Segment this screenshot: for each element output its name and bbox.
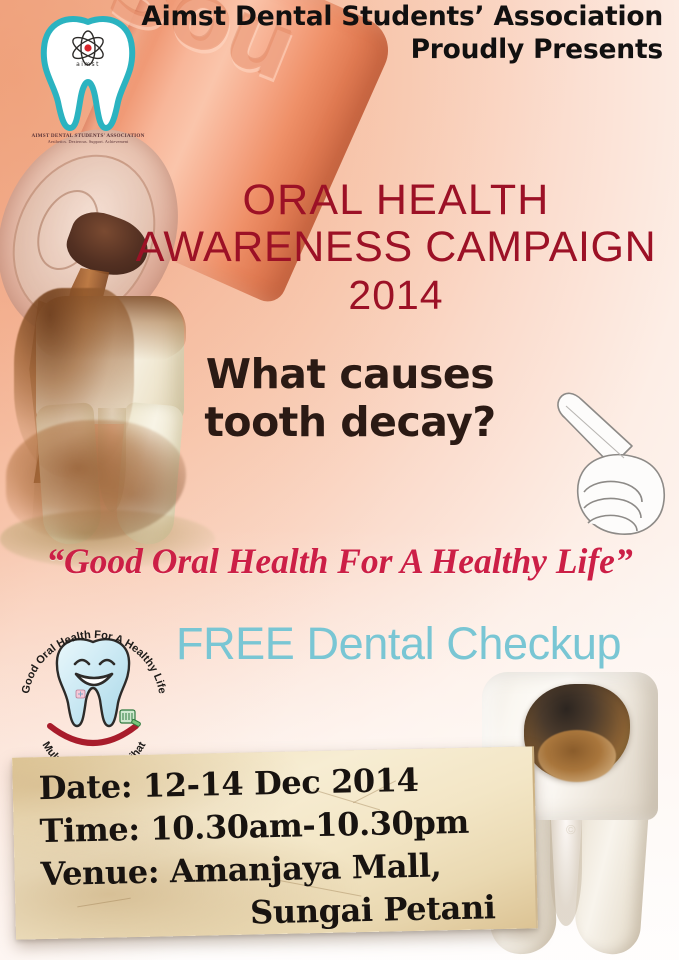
- adsa-caption-line2: Aesthetics. Dexterous. Support. Achievem…: [18, 140, 158, 144]
- question-line1: What causes: [206, 350, 494, 398]
- event-details-panel: Date: 12-14 Dec 2014 Time: 10.30am-10.30…: [12, 746, 538, 939]
- campaign-slogan: “Good Oral Health For A Healthy Life”: [0, 540, 679, 582]
- question-line2: tooth decay?: [150, 400, 550, 446]
- event-details-text: Date: 12-14 Dec 2014 Time: 10.30am-10.30…: [38, 757, 512, 939]
- campaign-title-line2: AWARENESS CAMPAIGN: [120, 225, 672, 269]
- organisation-header: Aimst Dental Students’ Association Proud…: [103, 2, 663, 65]
- aimst-monogram: aimst: [76, 61, 100, 68]
- poster-canvas: Sou aimst AIMST DENTAL STUDENTS' A: [0, 0, 679, 960]
- free-checkup-text: FREE Dental Checkup: [176, 618, 676, 670]
- org-name: Aimst Dental Students’ Association: [103, 2, 663, 33]
- oral-health-programme-logo: Good Oral Health For A Healthy Life Mulu…: [14, 614, 172, 762]
- question-heading: What causes tooth decay?: [150, 352, 550, 446]
- molar-root-right: [573, 800, 649, 956]
- campaign-year: 2014: [120, 274, 672, 316]
- watermark-icon: ©: [566, 822, 576, 837]
- adsa-logo-caption: AIMST DENTAL STUDENTS' ASSOCIATION Aesth…: [18, 134, 158, 145]
- pointing-hand-icon: [540, 380, 672, 545]
- campaign-title: ORAL HEALTH AWARENESS CAMPAIGN 2014: [120, 178, 672, 316]
- campaign-title-line1: ORAL HEALTH: [120, 178, 672, 222]
- org-presents: Proudly Presents: [103, 35, 663, 66]
- badge-icon: [76, 690, 85, 698]
- toothbrush-icon: [120, 710, 141, 727]
- molar-cavity-inner: [538, 730, 616, 782]
- smiling-tooth-icon: Good Oral Health For A Healthy Life Mulu…: [14, 614, 172, 762]
- atom-nucleus-icon: [84, 44, 91, 51]
